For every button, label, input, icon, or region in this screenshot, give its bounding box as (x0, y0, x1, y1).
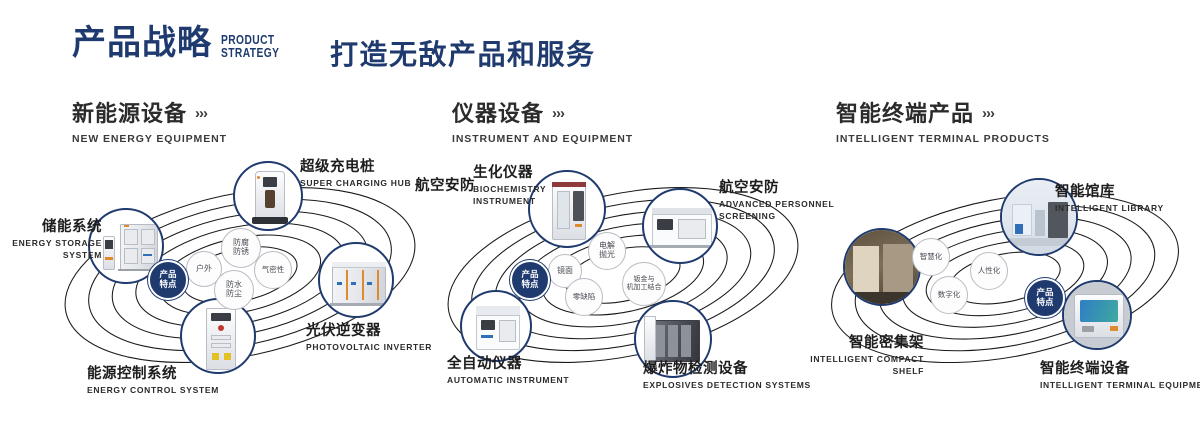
feature-label-line2: 防锈 (233, 248, 249, 257)
feature-bubble-zero-defect: 零缺陷 (565, 278, 603, 316)
photovoltaic-inverter-photo (320, 244, 392, 316)
label-energy-storage-system: 储能系统 ENERGY STORAGE SYSTEM (0, 215, 102, 260)
product-circle-intelligent-compact-shelf[interactable] (843, 228, 921, 306)
label-intelligent-library: 智能馆库 INTELLIGENT LIBRARY (1055, 180, 1164, 213)
badge-line2: 特点 (521, 280, 538, 290)
label-advanced-personnel-screening: 航空安防 ADVANCED PERSONNEL SCREENING (719, 176, 834, 221)
product-features-badge: 产品 特点 (510, 260, 550, 300)
headline: 打造无敌产品和服务 (330, 33, 596, 73)
label-en-line2: SHELF (790, 366, 924, 376)
label-cn: 生化仪器 (473, 161, 546, 182)
badge-line2: 特点 (1036, 298, 1053, 308)
cluster-new-energy: 户外 防腐 防锈 防水 防尘 气密性 产品 特点 (55, 160, 425, 390)
label-en-line1: AUTOMATIC INSTRUMENT (447, 375, 569, 385)
label-explosives-detection: 爆炸物检测设备 EXPLOSIVES DETECTION SYSTEMS (643, 357, 811, 390)
label-super-charging-hub: 超级充电桩 SUPER CHARGING HUB (300, 155, 411, 188)
label-cn: 储能系统 (0, 215, 102, 236)
label-en-line1: INTELLIGENT LIBRARY (1055, 203, 1164, 213)
label-intelligent-terminal-equipment: 智能终端设备 INTELLIGENT TERMINAL EQUIPMENT (1040, 357, 1200, 390)
product-circle-photovoltaic-inverter[interactable] (318, 242, 394, 318)
label-en-line1: ADVANCED PERSONNEL (719, 199, 834, 209)
label-en-line1: PHOTOVOLTAIC INVERTER (306, 342, 432, 352)
label-photovoltaic-inverter: 光伏逆变器 PHOTOVOLTAIC INVERTER (306, 319, 432, 352)
feature-label-line2: 防尘 (226, 290, 242, 299)
feature-label-line2: 机加工结合 (627, 284, 662, 292)
product-features-badge: 产品 特点 (1025, 278, 1065, 318)
feature-label-line1: 钣金与 (627, 276, 662, 284)
feature-bubble-intelligent: 智慧化 (912, 238, 950, 276)
label-cn: 爆炸物检测设备 (643, 357, 811, 378)
feature-bubble-digital: 数字化 (930, 276, 968, 314)
section-heading-intelligent-terminal: 智能终端产品››› INTELLIGENT TERMINAL PRODUCTS (836, 96, 1050, 145)
label-en-line1: ENERGY CONTROL SYSTEM (87, 385, 219, 395)
feature-bubble-sheetmetal-machining: 钣金与 机加工结合 (622, 262, 666, 306)
label-cn: 智能密集架 (790, 331, 924, 352)
label-automatic-instrument: 全自动仪器 AUTOMATIC INSTRUMENT (447, 352, 569, 385)
product-circle-super-charging-hub[interactable] (233, 161, 303, 231)
product-features-badge: 产品 特点 (148, 260, 188, 300)
label-en-line2: INSTRUMENT (473, 196, 546, 206)
label-cn: 智能终端设备 (1040, 357, 1200, 378)
feature-label: 户外 (196, 265, 212, 274)
feature-label-line2: 抛光 (599, 251, 615, 260)
chevron-icon: ››› (552, 105, 564, 122)
poster-canvas: 产品战略 PRODUCT STRATEGY 打造无敌产品和服务 新能源设备›››… (0, 0, 1200, 422)
brand-title: 产品战略 PRODUCT STRATEGY (72, 24, 292, 62)
brand-title-en-line1: PRODUCT (221, 34, 279, 47)
label-cn: 航空安防 (400, 174, 475, 195)
feature-bubble-airtightness: 气密性 (254, 251, 292, 289)
label-intelligent-compact-shelf: 智能密集架 INTELLIGENT COMPACT SHELF (790, 331, 924, 376)
brand-title-en: PRODUCT STRATEGY (221, 34, 279, 59)
label-en-line1: ENERGY STORAGE (0, 238, 102, 248)
feature-bubble-electropolishing: 电解 抛光 (588, 232, 626, 270)
section-title-cn: 仪器设备 (452, 96, 544, 128)
super-charging-hub-photo (235, 163, 301, 229)
label-en-line1: INTELLIGENT TERMINAL EQUIPMENT (1040, 380, 1200, 390)
feature-label: 镜面 (557, 267, 573, 276)
brand-title-en-line2: STRATEGY (221, 47, 279, 60)
feature-label: 数字化 (938, 291, 961, 299)
label-cn: 超级充电桩 (300, 155, 411, 176)
section-heading-instrument: 仪器设备››› INSTRUMENT AND EQUIPMENT (452, 96, 633, 145)
feature-label: 气密性 (262, 266, 285, 274)
chevron-icon: ››› (195, 105, 207, 122)
label-en-line1: INTELLIGENT COMPACT (790, 354, 924, 364)
intelligent-compact-shelf-photo (845, 230, 919, 304)
brand-title-cn: 产品战略 (72, 24, 212, 62)
badge-line2: 特点 (159, 280, 176, 290)
intelligent-terminal-equipment-photo (1064, 282, 1130, 348)
feature-label: 零缺陷 (573, 293, 596, 301)
label-aviation-security-left: 航空安防 (400, 174, 475, 195)
label-cn: 航空安防 (719, 176, 834, 197)
section-title-cn: 智能终端产品 (836, 96, 974, 128)
feature-bubble-humanized: 人性化 (970, 252, 1008, 290)
label-cn: 全自动仪器 (447, 352, 569, 373)
section-title-en: NEW ENERGY EQUIPMENT (72, 133, 227, 145)
section-title-cn: 新能源设备 (72, 96, 187, 128)
section-heading-new-energy: 新能源设备››› NEW ENERGY EQUIPMENT (72, 96, 227, 145)
section-title-en: INTELLIGENT TERMINAL PRODUCTS (836, 133, 1050, 145)
label-en-line1: SUPER CHARGING HUB (300, 178, 411, 188)
label-en-line1: BIOCHEMISTRY (473, 184, 546, 194)
feature-label: 人性化 (978, 267, 1001, 275)
section-title-en: INSTRUMENT AND EQUIPMENT (452, 133, 633, 145)
product-circle-intelligent-terminal-equipment[interactable] (1062, 280, 1132, 350)
automatic-instrument-photo (462, 292, 530, 360)
label-cn: 能源控制系统 (87, 362, 219, 383)
product-circle-advanced-personnel-screening[interactable] (642, 188, 718, 264)
label-en-line2: SYSTEM (0, 250, 102, 260)
label-cn: 智能馆库 (1055, 180, 1164, 201)
label-en-line2: SCREENING (719, 211, 834, 221)
feature-bubble-waterproof: 防水 防尘 (214, 270, 254, 310)
chevron-icon: ››› (982, 105, 994, 122)
feature-label: 智慧化 (920, 253, 943, 261)
label-cn: 光伏逆变器 (306, 319, 432, 340)
label-energy-control-system: 能源控制系统 ENERGY CONTROL SYSTEM (87, 362, 219, 395)
label-biochemistry-instrument: 生化仪器 BIOCHEMISTRY INSTRUMENT (473, 161, 546, 206)
label-en-line1: EXPLOSIVES DETECTION SYSTEMS (643, 380, 811, 390)
advanced-personnel-screening-photo (644, 190, 716, 262)
